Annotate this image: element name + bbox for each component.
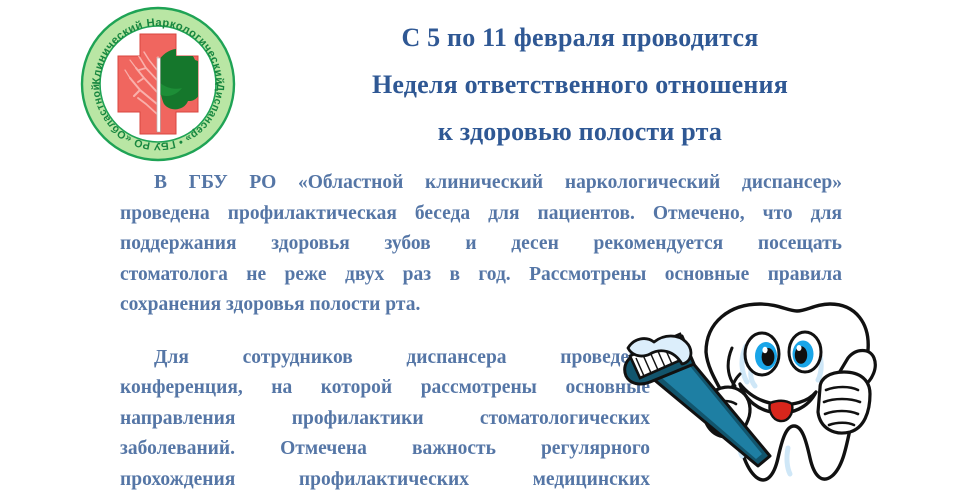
heading-line-3: к здоровью полости рта: [250, 108, 910, 155]
paragraph-2-line-2: конференция, на которой рассмотрены осно…: [120, 373, 650, 404]
paragraph-1-line-3: поддержания здоровья зубов и десен реком…: [120, 229, 842, 260]
paragraph-1-line-2: проведена профилактическая беседа для па…: [120, 199, 842, 230]
paragraph-2-line-4: заболеваний. Отмечена важность регулярно…: [120, 434, 650, 465]
tongue: [769, 401, 792, 421]
paragraph-2: Для сотрудников диспансера проведена кон…: [120, 343, 650, 497]
left-eye-highlight: [762, 347, 767, 353]
paragraph-2-line-5: прохождения профилактических медицинских: [120, 465, 650, 496]
poster-page: Клинический Наркологический Диспансер» •…: [0, 0, 960, 497]
heading-line-2: Неделя ответственного отношения: [250, 61, 910, 108]
heading-line-1: С 5 по 11 февраля проводится: [250, 14, 910, 61]
logo-svg: Клинический Наркологический Диспансер» •…: [78, 4, 238, 164]
organization-logo: Клинический Наркологический Диспансер» •…: [78, 4, 238, 164]
paragraph-1-line-4: стоматолога не реже двух раз в год. Расс…: [120, 260, 842, 291]
paragraph-1-line-1: В ГБУ РО «Областной клинический нарколог…: [120, 168, 842, 199]
paragraph-2-line-3: направления профилактики стоматологическ…: [120, 404, 650, 435]
right-eye-highlight: [797, 345, 802, 351]
paragraph-1: В ГБУ РО «Областной клинический нарколог…: [120, 168, 842, 321]
paragraph-2-line-1: Для сотрудников диспансера проведена: [120, 343, 650, 374]
poster-heading: С 5 по 11 февраля проводится Неделя отве…: [250, 14, 910, 155]
tooth-mascot-illustration: [620, 300, 960, 497]
tooth-mascot-svg: [620, 300, 960, 497]
